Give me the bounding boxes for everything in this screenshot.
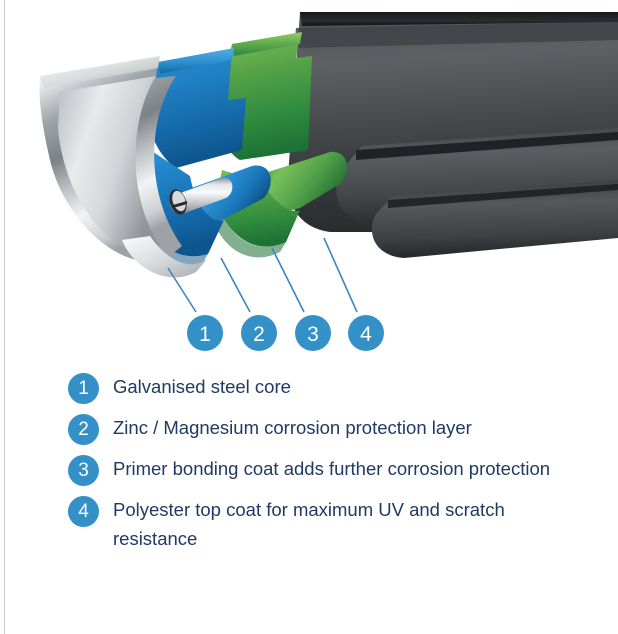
legend-badge-2: 2: [68, 414, 99, 445]
leader-line-2: [221, 258, 250, 312]
legend-item-1[interactable]: 1 Galvanised steel core: [0, 372, 618, 404]
callout-badge-1-label: 1: [199, 323, 211, 346]
legend-label-2: Zinc / Magnesium corrosion protection la…: [113, 413, 583, 442]
legend-item-4[interactable]: 4 Polyester top coat for maximum UV and …: [0, 495, 618, 553]
legend-label-3: Primer bonding coat adds further corrosi…: [113, 454, 583, 483]
callout-badge-2[interactable]: 2: [241, 315, 277, 351]
legend-item-3[interactable]: 3 Primer bonding coat adds further corro…: [0, 454, 618, 486]
callout-badge-3-label: 3: [307, 323, 319, 346]
leader-line-3: [272, 248, 304, 312]
callout-badge-3[interactable]: 3: [295, 315, 331, 351]
callout-badge-4-label: 4: [360, 323, 372, 346]
polyester-top-coat-layer: [288, 12, 618, 258]
legend-item-2[interactable]: 2 Zinc / Magnesium corrosion protection …: [0, 413, 618, 445]
legend-badge-3: 3: [68, 455, 99, 486]
legend-badge-1: 1: [68, 373, 99, 404]
legend-label-1: Galvanised steel core: [113, 372, 583, 401]
callout-badge-4[interactable]: 4: [348, 315, 384, 351]
diagram-page: 1 2 3 4 1 Galvanised steel core 2 Zinc /…: [0, 0, 618, 634]
legend-label-4: Polyester top coat for maximum UV and sc…: [113, 495, 583, 553]
leader-line-4: [324, 238, 357, 312]
callout-badge-1[interactable]: 1: [187, 315, 223, 351]
legend-list: 1 Galvanised steel core 2 Zinc / Magnesi…: [0, 372, 618, 562]
legend-badge-4: 4: [68, 496, 99, 527]
callout-badge-2-label: 2: [253, 323, 265, 346]
callout-badges: 1 2 3 4: [187, 315, 384, 351]
layered-tube-illustration: 1 2 3 4: [0, 0, 618, 360]
